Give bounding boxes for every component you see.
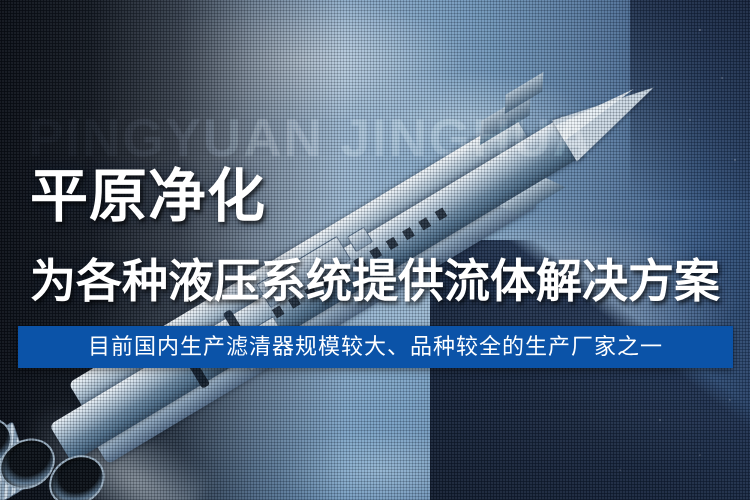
page-subtitle: 为各种液压系统提供流体解决方案 bbox=[30, 256, 720, 307]
banner-content: PINGYUAN JINGHUA 平原净化 为各种液压系统提供流体解决方案 目前… bbox=[0, 0, 750, 500]
tagline-bar: 目前国内生产滤清器规模较大、品种较全的生产厂家之一 bbox=[18, 326, 733, 368]
tagline-text: 目前国内生产滤清器规模较大、品种较全的生产厂家之一 bbox=[88, 336, 663, 358]
pinyin-watermark: PINGYUAN JINGHUA bbox=[28, 112, 748, 165]
hero-banner: PINGYUAN JINGHUA 平原净化 为各种液压系统提供流体解决方案 目前… bbox=[0, 0, 750, 500]
page-title: 平原净化 bbox=[30, 168, 266, 226]
